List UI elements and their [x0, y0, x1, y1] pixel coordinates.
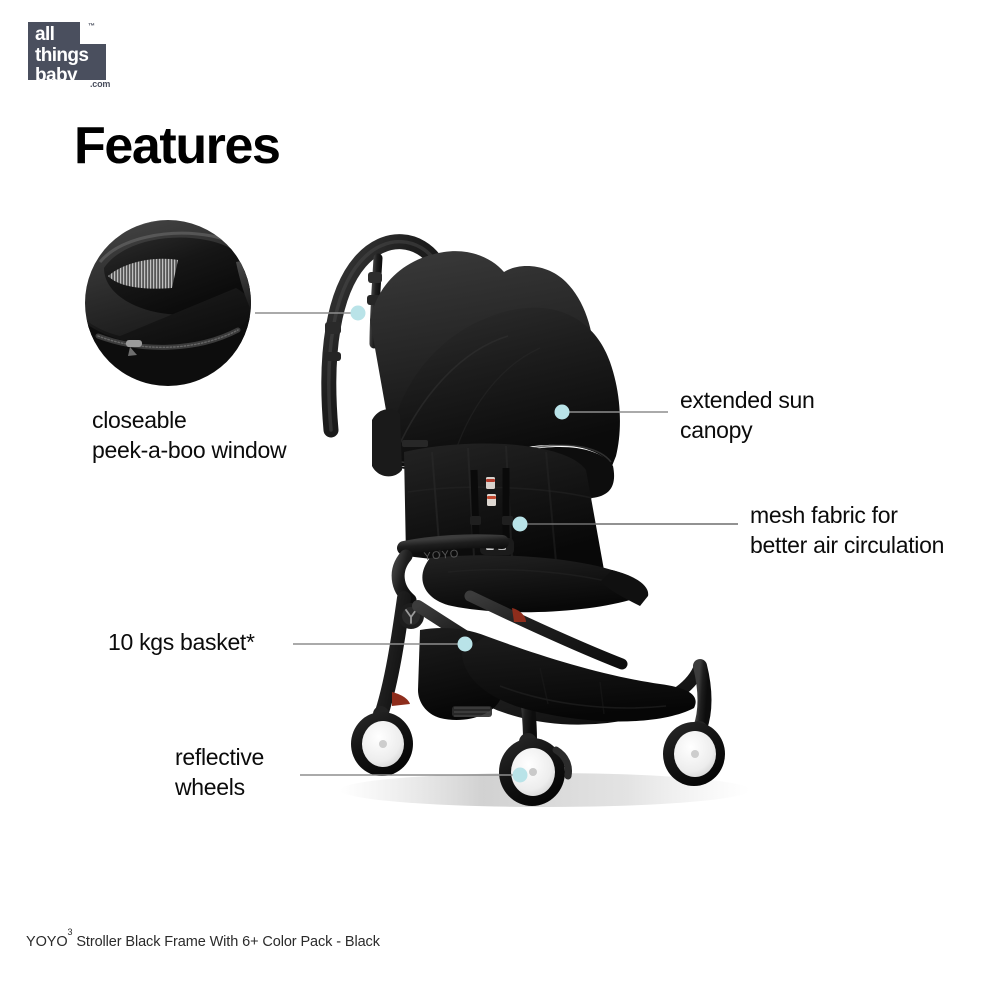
- harness-buckle-icon: [480, 538, 514, 555]
- wheel-rear-left: [351, 712, 413, 776]
- logo-wordmark: all things baby: [35, 25, 88, 87]
- callout-label-mesh-fabric: mesh fabric for better air circulation: [750, 500, 944, 560]
- logo-line-3: baby: [35, 66, 88, 87]
- callout-label-peek-a-boo-window: closeable peek-a-boo window: [92, 405, 286, 465]
- logo-line-1: all: [35, 25, 88, 46]
- seat-assembly: [404, 443, 648, 612]
- frame-brand-mark: YOYO: [423, 548, 460, 563]
- caption-superscript: 3: [68, 927, 73, 937]
- logo-domain-suffix: .com: [90, 79, 110, 89]
- caption-brand: YOYO: [26, 934, 68, 950]
- stroller-frame: YOYO: [373, 541, 708, 751]
- product-caption: YOYO3 Stroller Black Frame With 6+ Color…: [26, 932, 380, 950]
- stroller-handlebar: [324, 242, 436, 430]
- feature-page: all things baby ™ .com Features: [0, 0, 1000, 1000]
- callout-label-extended-sun-canopy: extended sun canopy: [680, 385, 815, 445]
- wheel-rear-right: [663, 722, 725, 786]
- stroller-illustration: YOYO: [324, 242, 750, 807]
- callout-dot-extended-sun-canopy: [555, 405, 570, 420]
- logo-trademark: ™: [88, 23, 95, 30]
- zipper-pull-icon: [126, 340, 142, 356]
- logo-line-2: things: [35, 46, 88, 67]
- brand-logo[interactable]: all things baby ™ .com: [28, 22, 124, 94]
- wheel-front: [499, 738, 569, 806]
- callout-label-reflective-wheels: reflective wheels: [175, 742, 264, 802]
- storage-basket: [418, 628, 696, 722]
- callout-label-basket: 10 kgs basket*: [108, 627, 255, 657]
- page-title: Features: [74, 120, 280, 172]
- caption-description: Stroller Black Frame With 6+ Color Pack …: [72, 934, 379, 950]
- sun-canopy: [370, 251, 620, 498]
- callout-dot-reflective-wheels: [513, 768, 528, 783]
- frame-hub-icon: [398, 603, 424, 629]
- callout-dot-basket: [458, 637, 473, 652]
- peekaboo-inset-image: [62, 214, 273, 392]
- callout-dot-mesh-fabric: [513, 517, 528, 532]
- callout-leaders: [255, 306, 738, 783]
- callout-dot-peek-a-boo-window: [351, 306, 366, 321]
